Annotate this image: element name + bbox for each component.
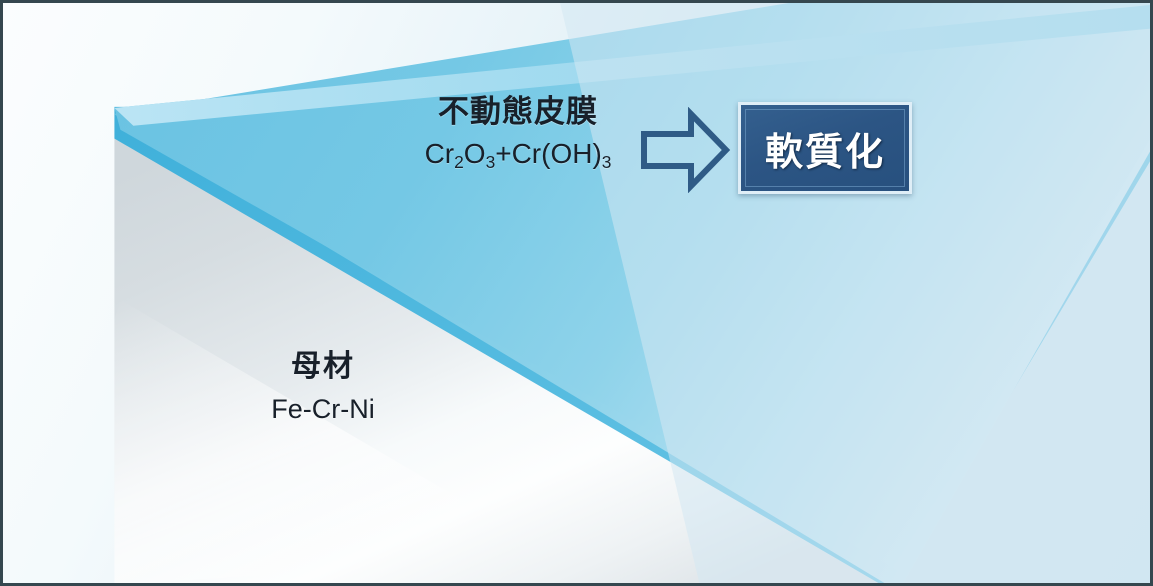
passive-film-formula: Cr2O3+Cr(OH)3 (388, 139, 648, 172)
base-material-label: 母材 (213, 351, 433, 383)
arrow-right-svg (639, 107, 731, 193)
passive-film-label: 不動態皮膜 (398, 95, 638, 128)
result-badge-label: 軟質化 (765, 121, 885, 176)
result-badge: 軟質化 (738, 102, 912, 194)
isometric-block-illustration (3, 3, 1150, 583)
block-svg (3, 3, 1150, 583)
base-material-formula: Fe-Cr-Ni (208, 395, 438, 424)
arrow-right-outline-icon (639, 107, 731, 193)
figure-container: 不動態皮膜 Cr2O3+Cr(OH)3 軟質化 母材 Fe-Cr-Ni (0, 0, 1153, 586)
arrow-outline-path (644, 114, 726, 186)
